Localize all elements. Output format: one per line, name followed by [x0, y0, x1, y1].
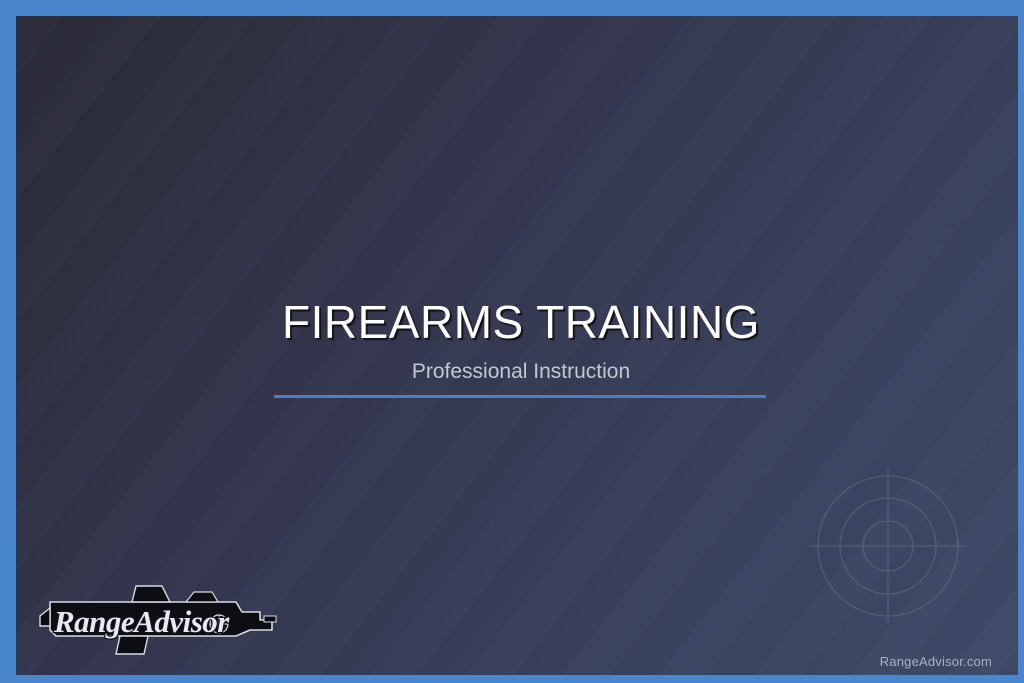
accent-divider — [274, 395, 766, 398]
slide-canvas: FIREARMS TRAINING Professional Instructi… — [16, 16, 1024, 683]
brand-wordmark: RangeAdvisor — [53, 604, 230, 639]
crosshair-target-icon — [802, 460, 974, 632]
footer-website: RangeAdvisor.com — [880, 654, 992, 669]
brand-logo: RangeAdvisor — [36, 574, 280, 656]
page-subtitle: Professional Instruction — [16, 360, 1024, 383]
title-block: FIREARMS TRAINING Professional Instructi… — [16, 298, 1024, 383]
presentation-slide: FIREARMS TRAINING Professional Instructi… — [0, 0, 1024, 683]
page-title: FIREARMS TRAINING — [16, 298, 1024, 347]
